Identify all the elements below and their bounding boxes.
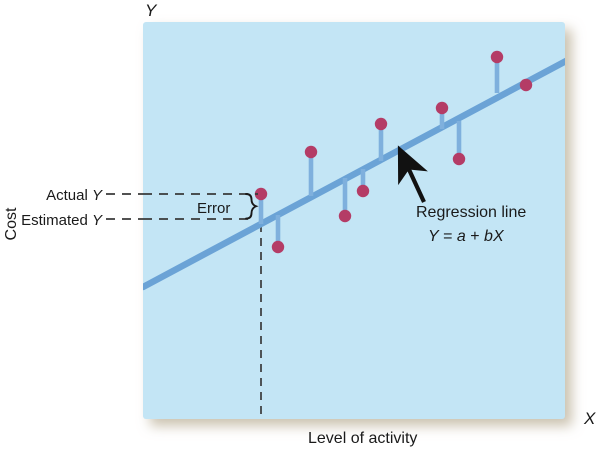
x-axis-title: Level of activity (308, 430, 417, 447)
data-point (375, 118, 387, 130)
estimated-y-label-text: Estimated (21, 212, 92, 229)
x-axis-letter: X (583, 409, 596, 428)
data-point (339, 210, 351, 222)
data-point (453, 153, 465, 165)
data-point (305, 146, 317, 158)
y-axis-title: Cost (3, 207, 20, 240)
regression-diagram: Y X Level of activity Cost Actual Y Esti… (0, 0, 600, 451)
actual-y-label-text: Actual (46, 187, 92, 204)
y-axis-letter: Y (145, 1, 158, 20)
actual-y-label: Actual Y (46, 187, 103, 204)
data-point (436, 102, 448, 114)
error-label: Error (197, 200, 230, 217)
regression-line-label: Regression line (416, 204, 526, 221)
data-point (272, 241, 284, 253)
data-point (491, 51, 503, 63)
data-point (520, 79, 532, 91)
figure-canvas: Y X Level of activity Cost Actual Y Esti… (0, 0, 600, 451)
estimated-y-label-symbol: Y (92, 212, 103, 229)
data-point (357, 185, 369, 197)
actual-y-label-symbol: Y (92, 187, 103, 204)
regression-formula-label: Y = a + bX (428, 228, 505, 245)
estimated-y-label: Estimated Y (21, 212, 103, 229)
